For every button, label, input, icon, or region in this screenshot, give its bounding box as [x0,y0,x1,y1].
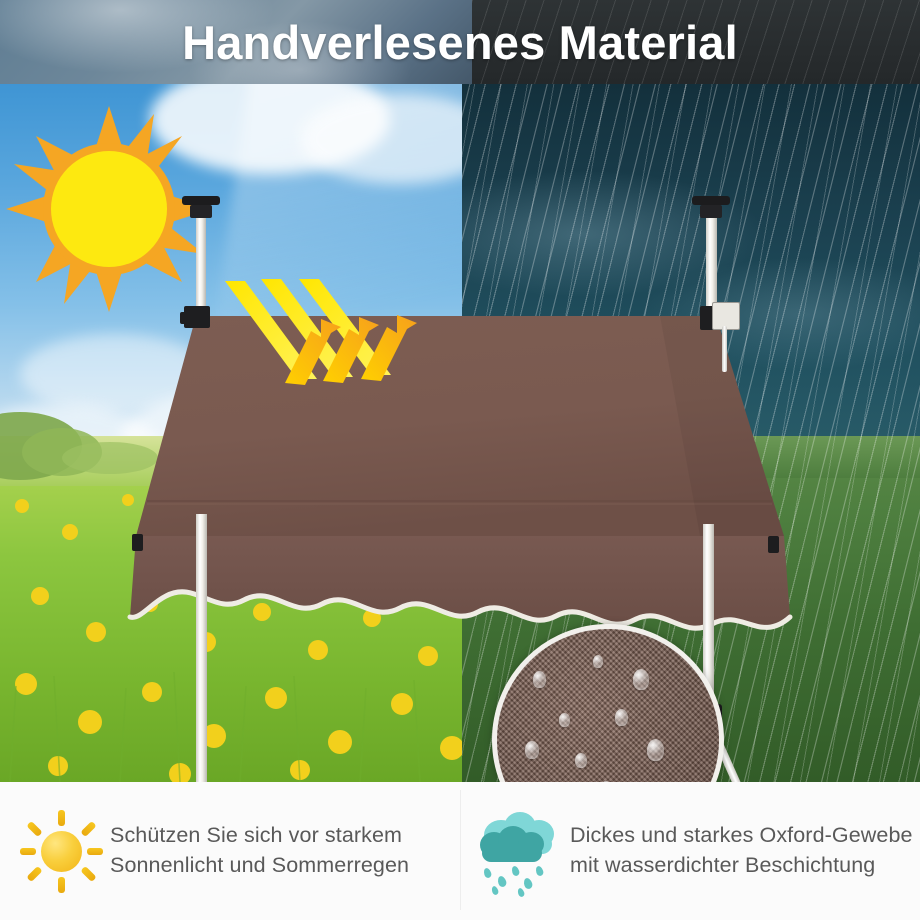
benefit-text-sun: Schützen Sie sich vor starkem Sonnenlich… [110,821,409,880]
stormy-scene [462,84,920,782]
split-scene-stage [0,84,920,782]
sun-ray [26,821,42,837]
sun-icon [4,104,214,314]
rain-drop [511,865,521,877]
footer-divider [460,790,461,910]
sunny-scene [0,84,462,782]
sun-ray [58,877,65,893]
benefit-line-1: Dickes und starkes Oxford-Gewebe [570,821,913,851]
rain-drop [535,865,545,877]
header-banner: Handverlesenes Material [0,0,920,84]
benefit-item-sun: Schützen Sie sich vor starkem Sonnenlich… [18,782,458,920]
sun-ray [58,810,65,826]
page-title: Handverlesenes Material [0,0,920,84]
sun-ray [26,866,42,882]
rain-drop [517,887,525,897]
benefit-line-2: Sonnenlicht und Sommerregen [110,851,409,881]
benefit-item-rain: Dickes und starkes Oxford-Gewebe mit was… [478,782,918,920]
sun-disc [41,831,82,872]
sun-icon [18,808,104,894]
sun-ray [80,866,96,882]
rain-drop [491,885,499,895]
sun-ray [80,821,96,837]
sun-ray [20,848,36,855]
product-feature-image: Handverlesenes Material [0,0,920,920]
benefit-text-rain: Dickes und starkes Oxford-Gewebe mit was… [570,821,913,880]
rain-drop [496,875,507,888]
rain-cloud-icon [478,808,564,894]
rain-drop [522,877,533,890]
rain-streaks-secondary [462,84,920,782]
benefit-line-1: Schützen Sie sich vor starkem [110,821,409,851]
rain-drop [483,867,493,879]
benefit-line-2: mit wasserdichter Beschichtung [570,851,913,881]
sun-ray [87,848,103,855]
cloud-body-front [482,844,542,862]
dandelion-flowers [0,436,462,782]
